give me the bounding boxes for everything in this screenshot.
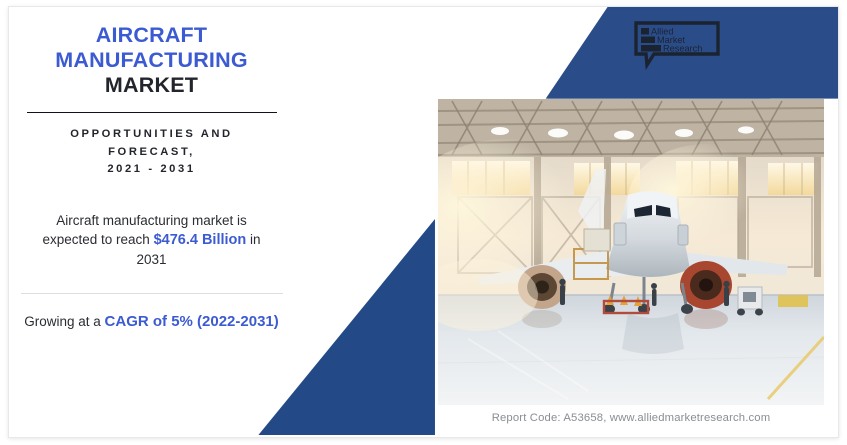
hangar-photo xyxy=(438,99,824,405)
title-line-2: MANUFACTURING xyxy=(15,48,288,73)
cagr-lead: Growing at a xyxy=(24,314,104,329)
market-value-highlight: $476.4 Billion xyxy=(154,232,247,248)
title-divider xyxy=(27,112,277,113)
title-line-1: AIRCRAFT xyxy=(15,23,288,48)
left-content-column: AIRCRAFT MANUFACTURING MARKET OPPORTUNIT… xyxy=(9,7,294,331)
report-code-footer: Report Code: A53658, www.alliedmarketres… xyxy=(438,412,824,424)
allied-market-research-logo: Allied Market Research xyxy=(634,21,720,71)
market-value-statement: Aircraft manufacturing market is expecte… xyxy=(9,211,294,269)
subtitle-line-3: 2021 - 2031 xyxy=(19,161,284,179)
stat-divider xyxy=(21,293,283,294)
cagr-highlight: CAGR of 5% (2022-2031) xyxy=(105,313,279,330)
subtitle-line-2: FORECAST, xyxy=(19,144,284,162)
infographic-card: AIRCRAFT MANUFACTURING MARKET OPPORTUNIT… xyxy=(8,6,839,438)
logo-line-3: Research xyxy=(663,44,702,54)
page-title: AIRCRAFT MANUFACTURING MARKET xyxy=(9,23,294,98)
subtitle-line-1: OPPORTUNITIES AND xyxy=(19,126,284,144)
title-line-3: MARKET xyxy=(15,73,288,98)
cagr-statement: Growing at a CAGR of 5% (2022-2031) xyxy=(9,312,294,331)
subtitle: OPPORTUNITIES AND FORECAST, 2021 - 2031 xyxy=(9,126,294,179)
